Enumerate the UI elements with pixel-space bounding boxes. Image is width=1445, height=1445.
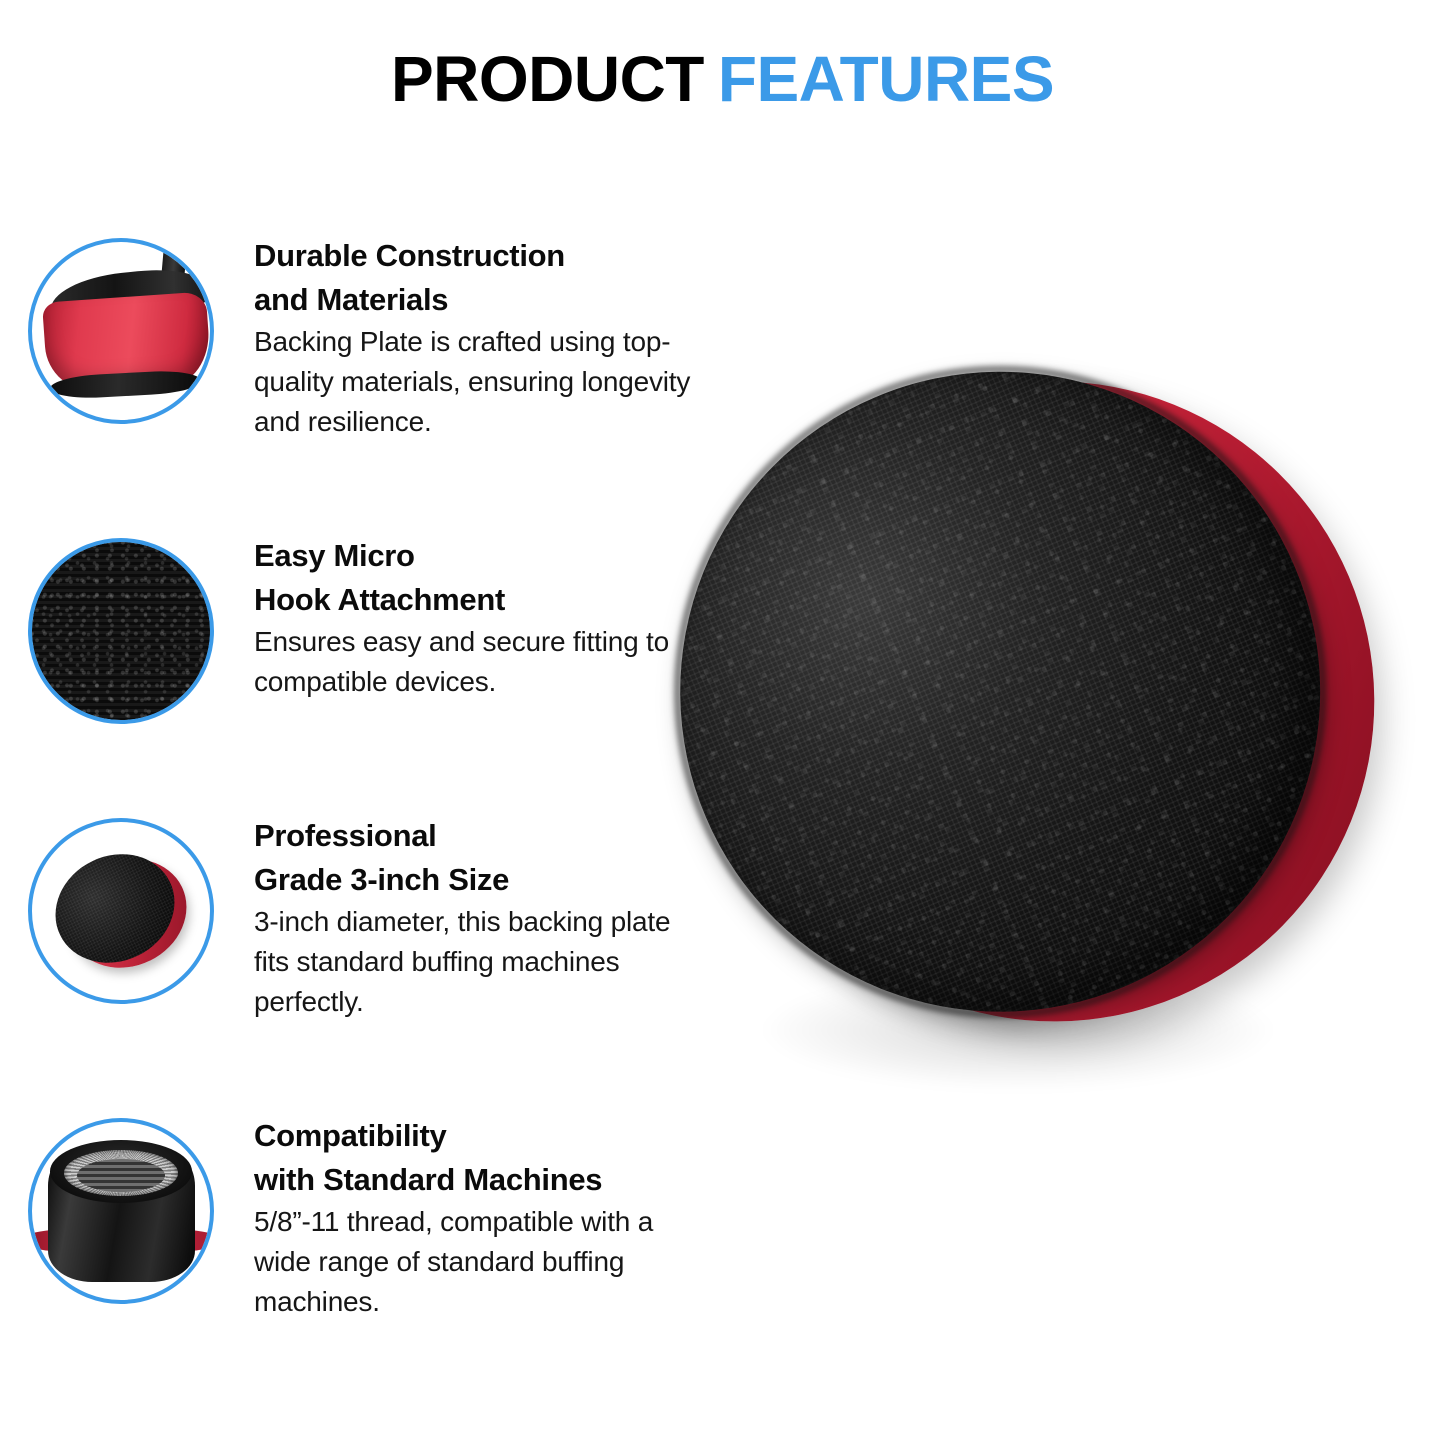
backing-plate-product-photo	[668, 330, 1445, 1190]
feature-item-professional-grade-size: Professional Grade 3-inch Size 3-inch di…	[0, 812, 720, 1022]
hook-texture-fill	[32, 542, 210, 720]
thumb-clip	[32, 542, 210, 720]
red-backing-plate-side-view-icon	[28, 238, 214, 424]
product-disc	[581, 253, 1445, 1158]
tilted-backing-disc-icon	[28, 818, 214, 1004]
hook-loop-texture-closeup-icon	[28, 538, 214, 724]
thumb-art	[32, 242, 210, 420]
feature-list: Durable Construction and Materials Backi…	[0, 0, 720, 1445]
thumb-clip	[32, 242, 210, 420]
page-title-features: FEATURES	[718, 43, 1054, 115]
feature-description: 5/8”-11 thread, compatible with a wide r…	[254, 1202, 708, 1322]
thumb-clip	[32, 1122, 210, 1300]
feature-description: 3-inch diameter, this backing plate fits…	[254, 902, 708, 1022]
thumb-clip	[32, 822, 210, 1000]
thumb-art	[32, 542, 210, 720]
feature-heading-line1: Compatibility	[254, 1114, 708, 1158]
threaded-hub-nut-icon	[28, 1118, 214, 1304]
thumb-art	[32, 1122, 210, 1300]
disc-black-face-shape	[37, 835, 192, 983]
thumb-art	[32, 822, 210, 1000]
feature-heading-line2: Grade 3-inch Size	[254, 858, 708, 902]
feature-heading-line2: with Standard Machines	[254, 1158, 708, 1202]
product-fuzz-outline	[573, 264, 1428, 1119]
feature-description: Backing Plate is crafted using top-quali…	[254, 322, 708, 442]
feature-text-block: Compatibility with Standard Machines 5/8…	[214, 1112, 708, 1322]
feature-text-block: Durable Construction and Materials Backi…	[214, 232, 708, 442]
feature-heading-line1: Professional	[254, 814, 708, 858]
feature-heading-line1: Durable Construction	[254, 234, 708, 278]
feature-item-durable-construction: Durable Construction and Materials Backi…	[0, 232, 720, 442]
feature-heading-line2: and Materials	[254, 278, 708, 322]
feature-text-block: Professional Grade 3-inch Size 3-inch di…	[214, 812, 708, 1022]
hub-thread-bore-shape	[77, 1159, 165, 1193]
feature-item-compatibility: Compatibility with Standard Machines 5/8…	[0, 1112, 720, 1322]
